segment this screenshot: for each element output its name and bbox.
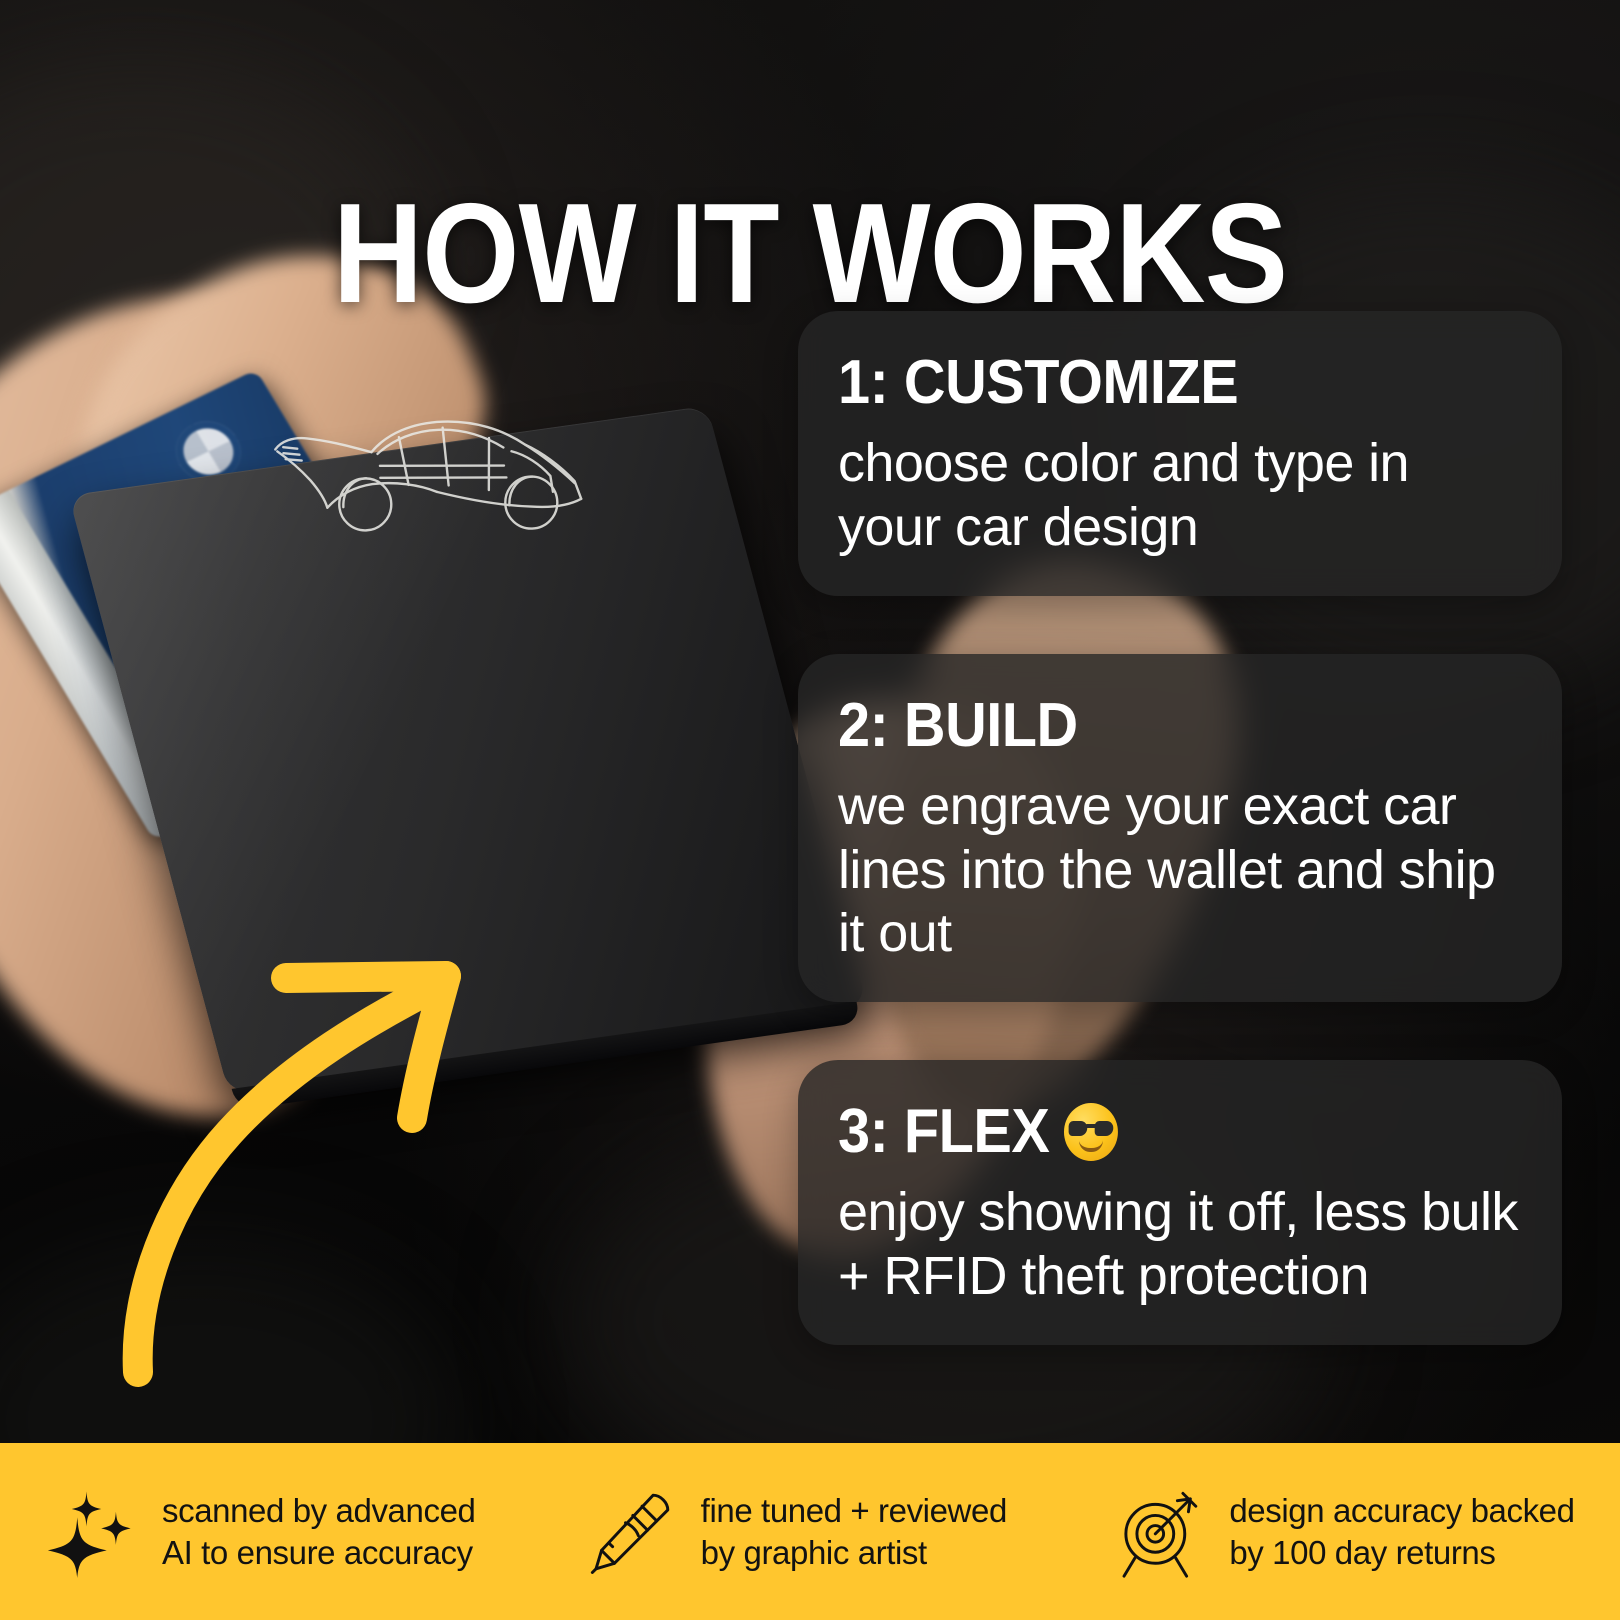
sparkles-icon	[46, 1486, 138, 1578]
steps-list: 1: CUSTOMIZE choose color and type in yo…	[798, 311, 1562, 1345]
step-3-heading-text: 3: FLEX	[838, 1100, 1049, 1163]
footer-line-2: by 100 day returns	[1229, 1532, 1574, 1574]
target-arrow-icon	[1113, 1486, 1205, 1578]
step-3-heading: 3: FLEX	[838, 1100, 1474, 1163]
footer-item-returns-text: design accuracy backed by 100 day return…	[1229, 1490, 1574, 1573]
sunglasses-part	[1069, 1121, 1114, 1136]
step-card-2: 2: BUILD we engrave your exact car lines…	[798, 654, 1562, 1002]
step-2-heading: 2: BUILD	[838, 694, 1474, 757]
footer-line-1: fine tuned + reviewed	[701, 1490, 1007, 1532]
step-2-body: we engrave your exact car lines into the…	[838, 775, 1522, 966]
step-card-1: 1: CUSTOMIZE choose color and type in yo…	[798, 311, 1562, 596]
smile-part	[1079, 1140, 1103, 1152]
pointer-arrow-icon	[90, 900, 590, 1400]
step-1-body: choose color and type in your car design	[838, 432, 1522, 559]
step-3-body: enjoy showing it off, less bulk + RFID t…	[838, 1181, 1522, 1308]
footer-line-2: AI to ensure accuracy	[162, 1532, 475, 1574]
step-1-heading-text: 1: CUSTOMIZE	[838, 351, 1238, 414]
footer-item-graphic-artist: fine tuned + reviewed by graphic artist	[553, 1486, 1092, 1578]
footer-item-returns: design accuracy backed by 100 day return…	[1091, 1486, 1620, 1578]
trust-badges-footer: scanned by advanced AI to ensure accurac…	[0, 1443, 1620, 1620]
step-2-heading-text: 2: BUILD	[838, 694, 1078, 757]
step-1-heading: 1: CUSTOMIZE	[838, 351, 1474, 414]
page-title: HOW IT WORKS	[97, 183, 1523, 325]
step-card-3: 3: FLEX enjoy showing it off, less bulk …	[798, 1060, 1562, 1345]
pencil-icon	[585, 1486, 677, 1578]
footer-item-graphic-artist-text: fine tuned + reviewed by graphic artist	[701, 1490, 1007, 1573]
smiling-face-with-sunglasses-emoji-icon	[1064, 1103, 1118, 1161]
footer-line-1: design accuracy backed	[1229, 1490, 1574, 1532]
footer-item-ai-scan: scanned by advanced AI to ensure accurac…	[0, 1486, 553, 1578]
infographic-canvas: HOW IT WORKS 1: CUSTOMIZE choose color a…	[0, 0, 1620, 1620]
footer-item-ai-scan-text: scanned by advanced AI to ensure accurac…	[162, 1490, 475, 1573]
footer-line-2: by graphic artist	[701, 1532, 1007, 1574]
footer-line-1: scanned by advanced	[162, 1490, 475, 1532]
car-line-art-engraving-icon	[265, 386, 600, 547]
